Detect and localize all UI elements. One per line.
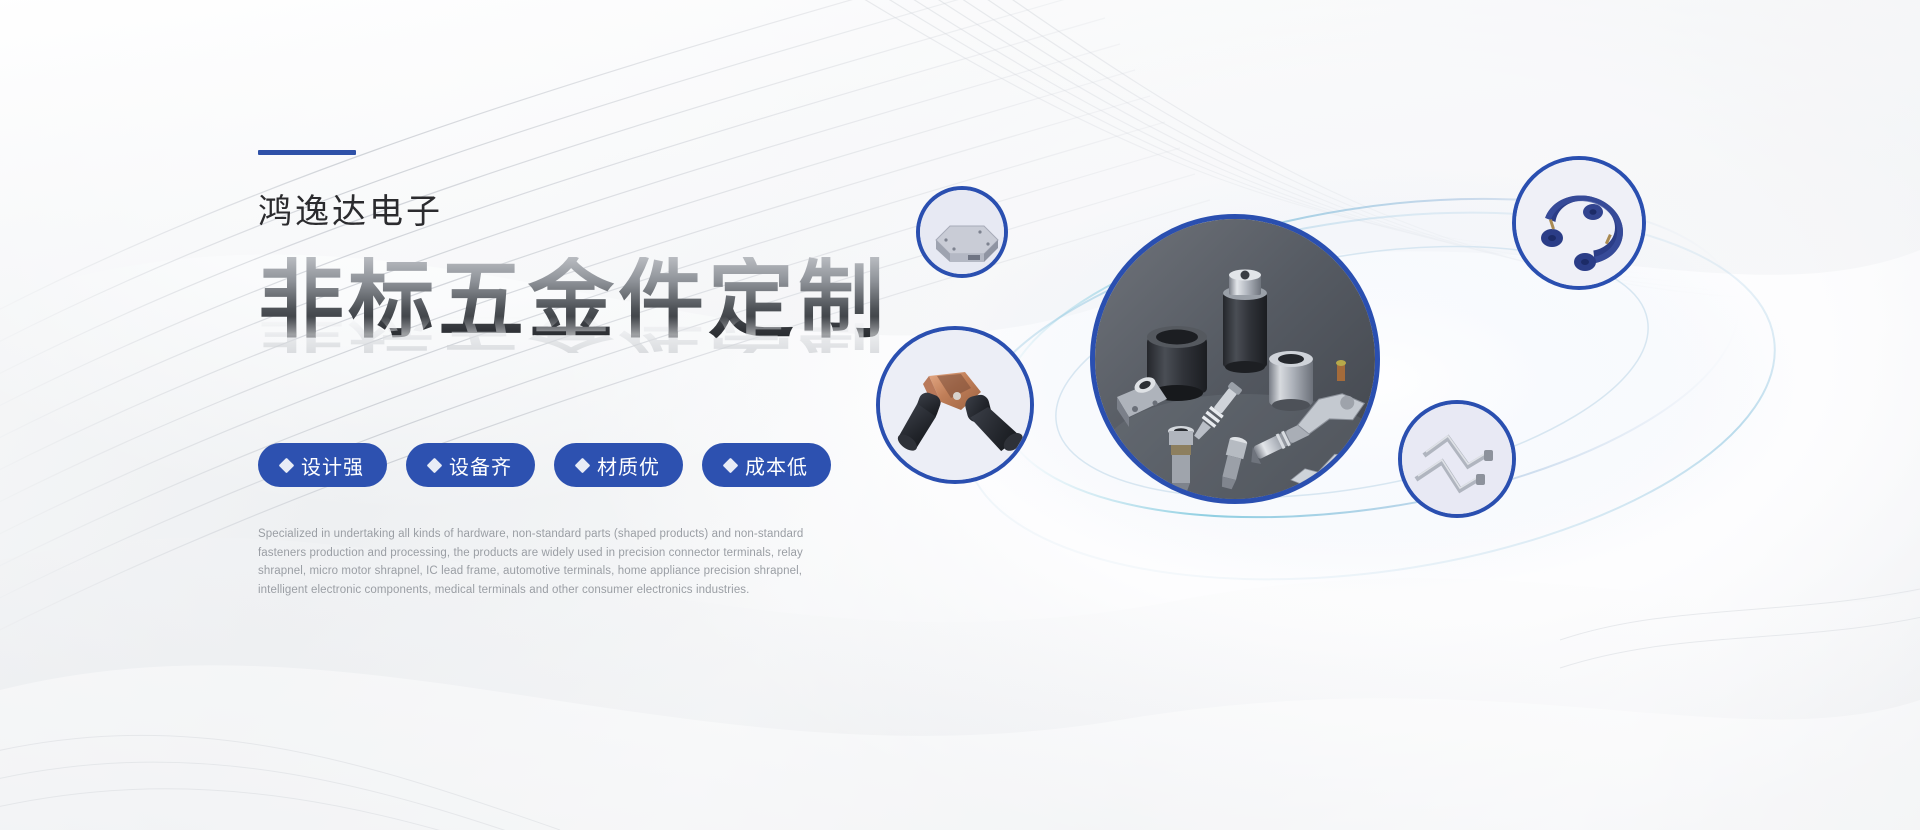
- product-showcase: [900, 110, 1860, 630]
- headline-group: 非标五金件定制 非标五金件定制: [258, 257, 898, 377]
- feature-pill-design[interactable]: 设计强: [258, 443, 387, 487]
- feature-pill-label: 设计强: [301, 451, 364, 480]
- feature-pill-label: 成本低: [745, 451, 808, 480]
- node-shielding-case[interactable]: [916, 186, 1008, 278]
- feature-pill-material[interactable]: 材质优: [554, 443, 683, 487]
- diamond-icon: [427, 457, 443, 473]
- banner-description: Specialized in undertaking all kinds of …: [258, 525, 828, 600]
- feature-pill-equipment[interactable]: 设备齐: [406, 443, 535, 487]
- node-hardware-assortment[interactable]: [1090, 214, 1380, 504]
- feature-pill-row: 设计强 设备齐 材质优 成本低: [258, 443, 898, 487]
- brand-name: 鸿逸达电子: [258, 195, 898, 229]
- orbit-rings: [900, 110, 1860, 630]
- node-bent-terminals[interactable]: [1398, 400, 1516, 518]
- hero-banner: 鸿逸达电子 非标五金件定制 非标五金件定制 设计强 设备齐 材质优 成本低: [0, 0, 1920, 830]
- battery-clamp-icon: [880, 330, 1034, 484]
- hardware-assortment-icon: [1095, 219, 1380, 504]
- node-battery-clamp[interactable]: [876, 326, 1034, 484]
- accent-rule: [258, 150, 356, 155]
- banner-text-column: 鸿逸达电子 非标五金件定制 非标五金件定制 设计强 设备齐 材质优 成本低: [258, 150, 898, 600]
- bent-terminals-icon: [1402, 404, 1516, 518]
- retaining-clip-icon: [1516, 160, 1646, 290]
- diamond-icon: [575, 457, 591, 473]
- feature-pill-cost[interactable]: 成本低: [702, 443, 831, 487]
- feature-pill-label: 材质优: [597, 451, 660, 480]
- page-title: 非标五金件定制: [258, 257, 888, 343]
- diamond-icon: [279, 457, 295, 473]
- feature-pill-label: 设备齐: [449, 451, 512, 480]
- shielding-case-icon: [920, 190, 1008, 278]
- node-retaining-clip[interactable]: [1512, 156, 1646, 290]
- diamond-icon: [723, 457, 739, 473]
